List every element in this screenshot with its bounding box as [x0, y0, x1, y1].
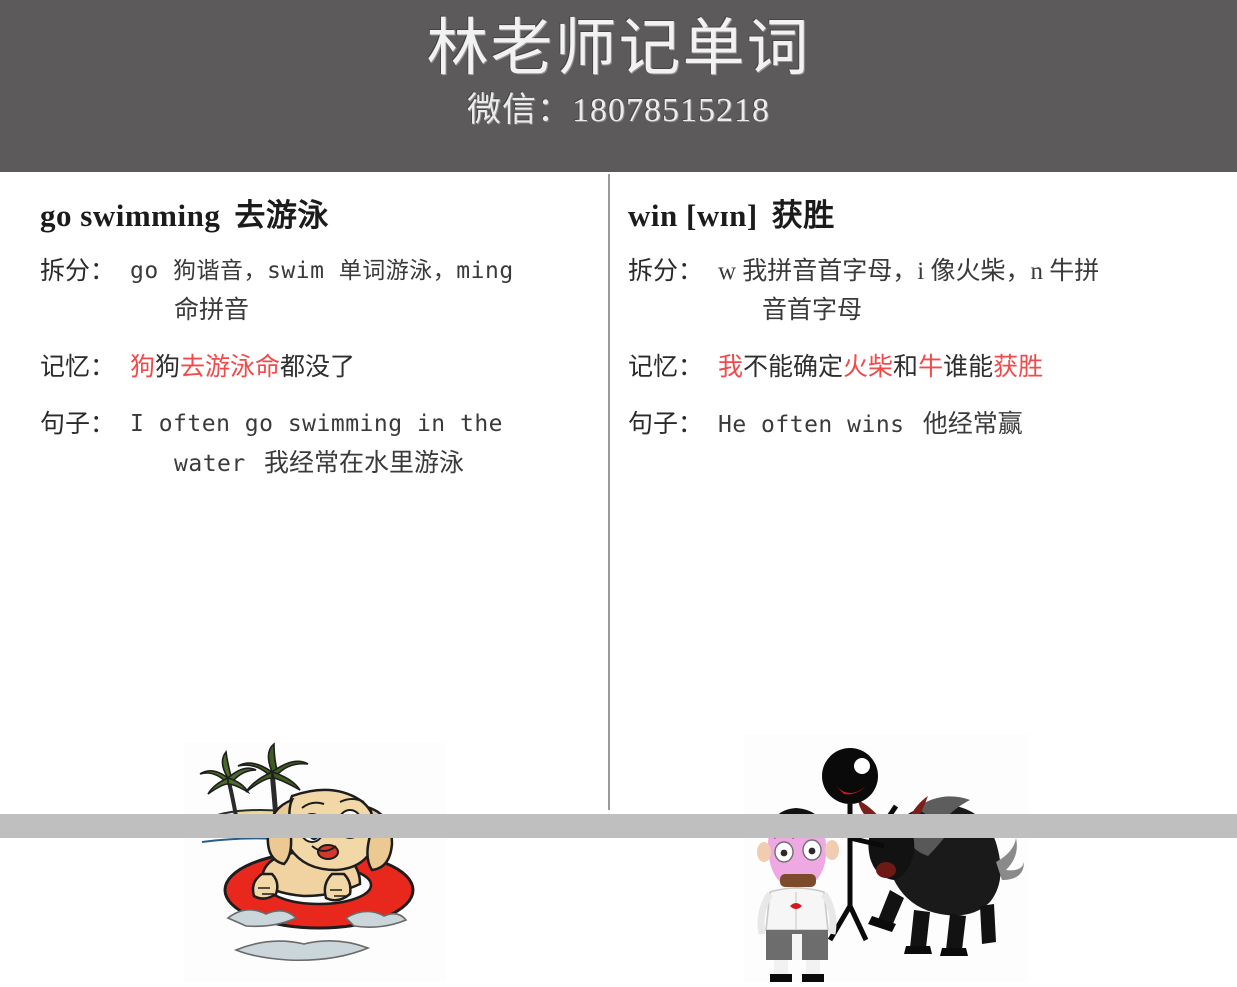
memory-row: 记忆： 我不能确定火柴和牛谁能获胜	[628, 348, 1194, 387]
word-card-go-swimming: go swimming去游泳 拆分： go 狗谐音，swim 单词游泳，ming…	[40, 172, 606, 814]
sentence-text: I often go swimming in the water 我经常在水里游…	[130, 405, 606, 484]
memory-part: 都没了	[280, 354, 355, 381]
memory-part: 狗	[130, 354, 155, 381]
breakdown-line-1: w 我拼音首字母，i 像火柴，n 牛拼	[718, 252, 1194, 291]
sentence-line-1: I often go swimming in the	[130, 405, 606, 444]
memory-text: 狗狗去游泳命都没了	[130, 348, 606, 387]
wechat-contact: 微信：18078515218	[467, 90, 770, 132]
header-banner: 林老师记单词 微信：18078515218	[0, 0, 1237, 172]
column-divider	[608, 174, 610, 810]
breakdown-line-2: 音首字母	[718, 291, 1194, 330]
word-meaning: 获胜	[772, 198, 835, 233]
breakdown-label: 拆分：	[628, 252, 718, 291]
sentence-line-2-chinese: 我经常在水里游泳	[264, 450, 464, 477]
word-meaning: 去游泳	[234, 198, 329, 233]
word-text: go swimming	[40, 198, 220, 233]
word-heading: win [wɪn]获胜	[628, 198, 1194, 234]
word-text: win	[628, 198, 678, 233]
word-heading: go swimming去游泳	[40, 198, 606, 234]
sentence-line-1-english: He often wins	[718, 412, 905, 438]
word-ipa: [wɪn]	[686, 198, 758, 233]
sentence-line-2-english: water	[174, 451, 246, 477]
sentence-line-1: He often wins 他经常赢	[718, 405, 1194, 445]
breakdown-row: 拆分： go 狗谐音，swim 单词游泳，ming 命拼音	[40, 252, 606, 330]
breakdown-line-1: go 狗谐音，swim 单词游泳，ming	[130, 252, 606, 291]
puppy-in-swim-ring-illustration	[184, 742, 446, 982]
memory-part: 狗	[155, 354, 180, 381]
memory-part: 牛	[918, 354, 943, 381]
memory-part: 获胜	[993, 354, 1043, 381]
sentence-line-2: water 我经常在水里游泳	[130, 444, 606, 484]
sentence-label: 句子：	[40, 405, 130, 444]
slide-page: 林老师记单词 微信：18078515218 go swimming去游泳 拆分：…	[0, 0, 1237, 838]
memory-label: 记忆：	[40, 348, 130, 387]
sentence-row: 句子： I often go swimming in the water 我经常…	[40, 405, 606, 484]
sentence-line-1-chinese: 他经常赢	[923, 411, 1023, 438]
memory-label: 记忆：	[628, 348, 718, 387]
memory-part: 谁能	[943, 354, 993, 381]
sentence-label: 句子：	[628, 405, 718, 444]
memory-text: 我不能确定火柴和牛谁能获胜	[718, 348, 1194, 387]
memory-row: 记忆： 狗狗去游泳命都没了	[40, 348, 606, 387]
memory-part: 火柴	[843, 354, 893, 381]
sentence-row: 句子： He often wins 他经常赢	[628, 405, 1194, 445]
breakdown-row: 拆分： w 我拼音首字母，i 像火柴，n 牛拼 音首字母	[628, 252, 1194, 330]
breakdown-text: go 狗谐音，swim 单词游泳，ming 命拼音	[130, 252, 606, 330]
memory-part: 我	[718, 354, 743, 381]
memory-part: 不能确定	[743, 354, 843, 381]
memory-part: 去游泳命	[180, 354, 280, 381]
memory-part: 和	[893, 354, 918, 381]
content-area: go swimming去游泳 拆分： go 狗谐音，swim 单词游泳，ming…	[0, 172, 1237, 814]
breakdown-line-2: 命拼音	[130, 291, 606, 330]
breakdown-label: 拆分：	[40, 252, 130, 291]
sentence-text: He often wins 他经常赢	[718, 405, 1194, 445]
page-title: 林老师记单词	[426, 10, 810, 86]
footer-bar	[0, 814, 1237, 838]
stickman-boy-and-bull-illustration	[744, 734, 1028, 982]
breakdown-text: w 我拼音首字母，i 像火柴，n 牛拼 音首字母	[718, 252, 1194, 330]
word-card-win: win [wɪn]获胜 拆分： w 我拼音首字母，i 像火柴，n 牛拼 音首字母…	[628, 172, 1194, 814]
